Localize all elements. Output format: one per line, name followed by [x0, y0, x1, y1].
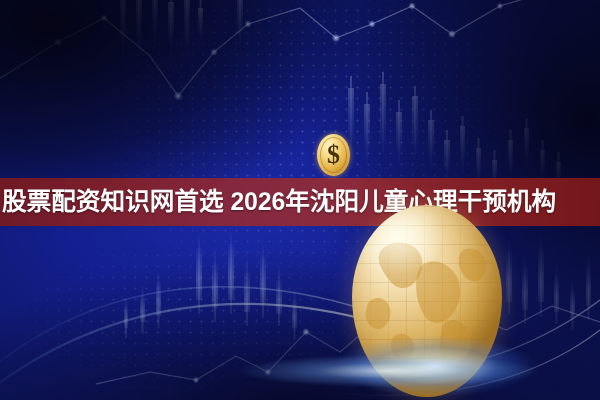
- globe-highlight: [352, 205, 502, 397]
- dollar-sign-glyph: $: [317, 134, 350, 176]
- globe-body: [352, 205, 502, 397]
- gold-dollar-coin-icon: $: [317, 134, 350, 176]
- title-band: 股票配资知识网首选 2026年沈阳儿童心理干预机构: [0, 178, 600, 226]
- promo-banner-image: $ 股票配资知识网首选 2026年沈阳儿童心理干预机构: [0, 0, 600, 400]
- gold-globe-graphic: [352, 205, 502, 397]
